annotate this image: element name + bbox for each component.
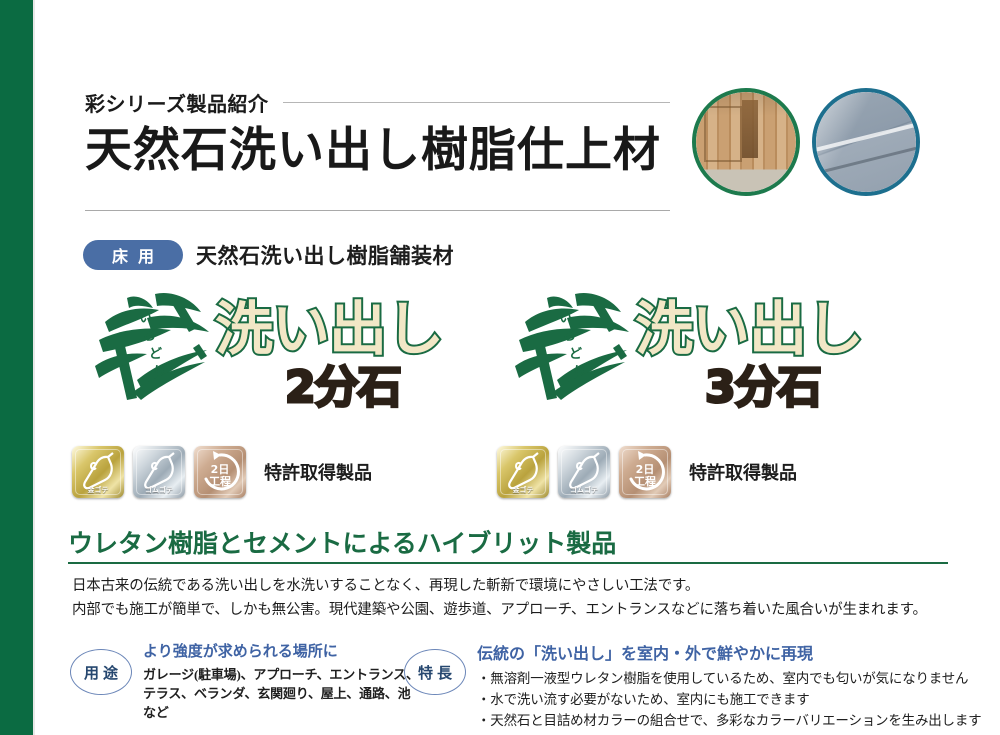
info-text: ガレージ(駐車場)、アプローチ、エントランス、 テラス、ベランダ、玄関廻り、屋上… [143,665,400,722]
usage-badge-floor: 床用 [83,240,183,270]
info-box-usage: 用途 より強度が求められる場所に ガレージ(駐車場)、アプローチ、エントランス、… [70,640,400,722]
badge-row-2bunseki: 金ゴテ ゴムゴテ 2日 工程 [72,443,372,501]
info-text: ・無溶剤一液型ウレタン樹脂を使用しているため、室内でも匂いが気になりません ・水… [477,668,964,731]
page-title: 天然石洗い出し樹脂仕上材 [85,126,685,177]
svg-text:ど: ど [149,347,162,362]
svg-text:工程: 工程 [209,474,231,488]
info-line: ガレージ(駐車場)、アプローチ、エントランス、 [143,665,400,684]
brochure-page: 彩シリーズ製品紹介 天然石洗い出し樹脂仕上材 床用 天然石洗い出し樹脂舗装材 [0,0,1000,735]
wooden-entrance-image [696,92,796,192]
svg-text:り: り [573,365,586,380]
product-grade: 3分石 [705,366,821,410]
patent-label: 特許取得製品 [689,459,797,485]
info-heading: より強度が求められる場所に [143,640,400,661]
info-box-features: 特長 伝統の「洗い出し」を室内・外で鮮やかに再現 ・無溶剤一液型ウレタン樹脂を使… [404,640,964,731]
paragraph-line: 日本古来の伝統である洗い出しを水洗いすることなく、再現した斬新で環境にやさしい工… [72,574,952,598]
info-heading: 伝統の「洗い出し」を室内・外で鮮やかに再現 [477,640,964,664]
info-line: など [143,703,400,722]
eyebrow-label: 彩シリーズ製品紹介 [85,88,269,117]
two-day-process-icon: 2日 工程 [194,446,246,498]
info-line: ・天然石と目詰め材カラーの組合せで、多彩なカラーバリエーションを生み出します [477,710,964,731]
metal-trowel-icon: 金ゴテ [497,446,549,498]
info-line: ・無溶剤一液型ウレタン樹脂を使用しているため、室内でも匂いが気になりません [477,668,964,689]
irodori-brush-icon: い ろ ど り [75,288,225,408]
irodori-brush-icon: い ろ ど り [495,288,645,408]
info-line: ・水で洗い流す必要がないため、室内にも施工できます [477,689,964,710]
svg-text:り: り [153,365,166,380]
rubber-trowel-icon: ゴムゴテ [558,446,610,498]
rubber-trowel-icon: ゴムゴテ [133,446,185,498]
svg-text:工程: 工程 [634,474,656,488]
paragraph-line: 内部でも施工が簡単で、しかも無公害。現代建築や公園、遊歩道、アプローチ、エントラ… [72,598,952,622]
badge-label: ゴムゴテ [558,485,610,495]
product-name-washout: 洗い出し [215,300,443,358]
two-day-process-icon: 2日 工程 [619,446,671,498]
badge-label: ゴムゴテ [133,485,185,495]
info-tag-usage: 用途 [70,649,132,695]
svg-text:い: い [559,311,572,326]
spine-edge-line [33,0,35,735]
product-grade: 2分石 [285,366,401,410]
svg-text:い: い [139,311,152,326]
svg-text:ろ: ろ [563,329,576,344]
section-heading: ウレタン樹脂とセメントによるハイブリット製品 [68,524,616,560]
left-green-spine [0,0,33,735]
section-heading-underline [68,562,948,564]
stone-wall-image [816,92,916,192]
stone-wall-photo [812,88,920,196]
metal-trowel-icon: 金ゴテ [72,446,124,498]
info-tag-features: 特長 [404,649,466,695]
svg-text:ど: ど [569,347,582,362]
usage-description: 天然石洗い出し樹脂舗装材 [196,240,454,270]
product-logo-3bunseki: い ろ ど り 洗い出し 3分石 [495,288,895,428]
badge-label: 金ゴテ [72,485,124,495]
patent-label: 特許取得製品 [264,459,372,485]
info-line: テラス、ベランダ、玄関廻り、屋上、通路、池 [143,684,400,703]
product-logo-2bunseki: い ろ ど り 洗い出し 2分石 [75,288,475,428]
product-name-washout: 洗い出し [635,300,863,358]
title-underline [85,210,670,211]
svg-text:ろ: ろ [143,329,156,344]
badge-label: 金ゴテ [497,485,549,495]
eyebrow-row: 彩シリーズ製品紹介 [85,88,670,117]
eyebrow-rule [283,102,671,103]
section-paragraph: 日本古来の伝統である洗い出しを水洗いすることなく、再現した斬新で環境にやさしい工… [72,574,952,622]
badge-row-3bunseki: 金ゴテ ゴムゴテ 2日 工程 [497,443,797,501]
wooden-entrance-photo [692,88,800,196]
